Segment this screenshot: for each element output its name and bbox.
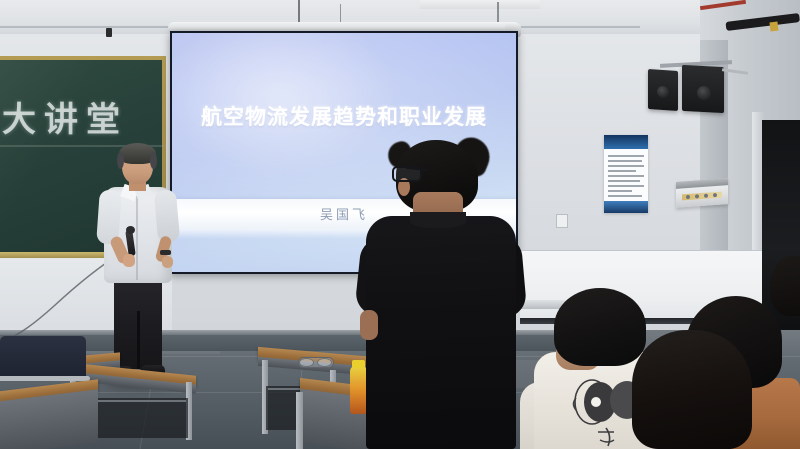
eyeglasses-lens-left	[299, 358, 314, 367]
desk-shelf-rail	[86, 400, 186, 402]
wall-speaker-right	[682, 65, 724, 113]
audience-hair-long	[632, 330, 752, 449]
presenter-sleeve-right	[154, 189, 180, 243]
poster-footer-band	[604, 201, 648, 213]
standing-student-forearm	[360, 310, 378, 340]
standing-student-collar	[410, 212, 466, 228]
poster-header-band	[604, 135, 648, 149]
presenter-hair-side-right	[150, 152, 157, 169]
wall-notice-poster	[604, 135, 648, 213]
ceiling-wire-2	[340, 4, 341, 24]
presenter-hair-side-left	[117, 152, 124, 169]
lecture-hall-photo: 大讲堂 航空物流发展趋势和职业发展 吴国飞	[0, 0, 800, 449]
microphone-head-icon	[126, 226, 135, 234]
presenter-leg-split	[137, 311, 140, 369]
wall-control-panel[interactable]	[676, 178, 728, 208]
presenter-figure	[96, 146, 178, 386]
presenter-hand-right	[162, 256, 173, 268]
presenter-wristwatch	[160, 250, 171, 255]
chair-frame	[0, 376, 90, 381]
desk-shelf	[84, 398, 188, 438]
chair-backrest[interactable]	[0, 336, 86, 380]
presenter-shirt-placket	[136, 196, 138, 280]
wall-sensor-icon	[106, 28, 112, 37]
wall-speaker-left	[648, 69, 678, 111]
eyeglasses-lens-right	[317, 358, 332, 367]
speaker-cone-icon	[657, 86, 669, 99]
blackboard-chalk-text: 大讲堂	[2, 92, 170, 141]
cable-clip	[769, 22, 778, 32]
standing-student-figure	[358, 140, 524, 449]
ceiling-vent	[420, 0, 540, 9]
presenter-hand-left	[123, 254, 135, 267]
wall-outlet[interactable]	[556, 214, 568, 228]
speaker-cone-icon	[697, 86, 711, 101]
audience-hair-white-tee	[554, 288, 646, 366]
desk-leg	[296, 392, 303, 449]
standing-student-tshirt	[366, 216, 516, 449]
slide-title: 航空物流发展趋势和职业发展	[172, 101, 516, 131]
